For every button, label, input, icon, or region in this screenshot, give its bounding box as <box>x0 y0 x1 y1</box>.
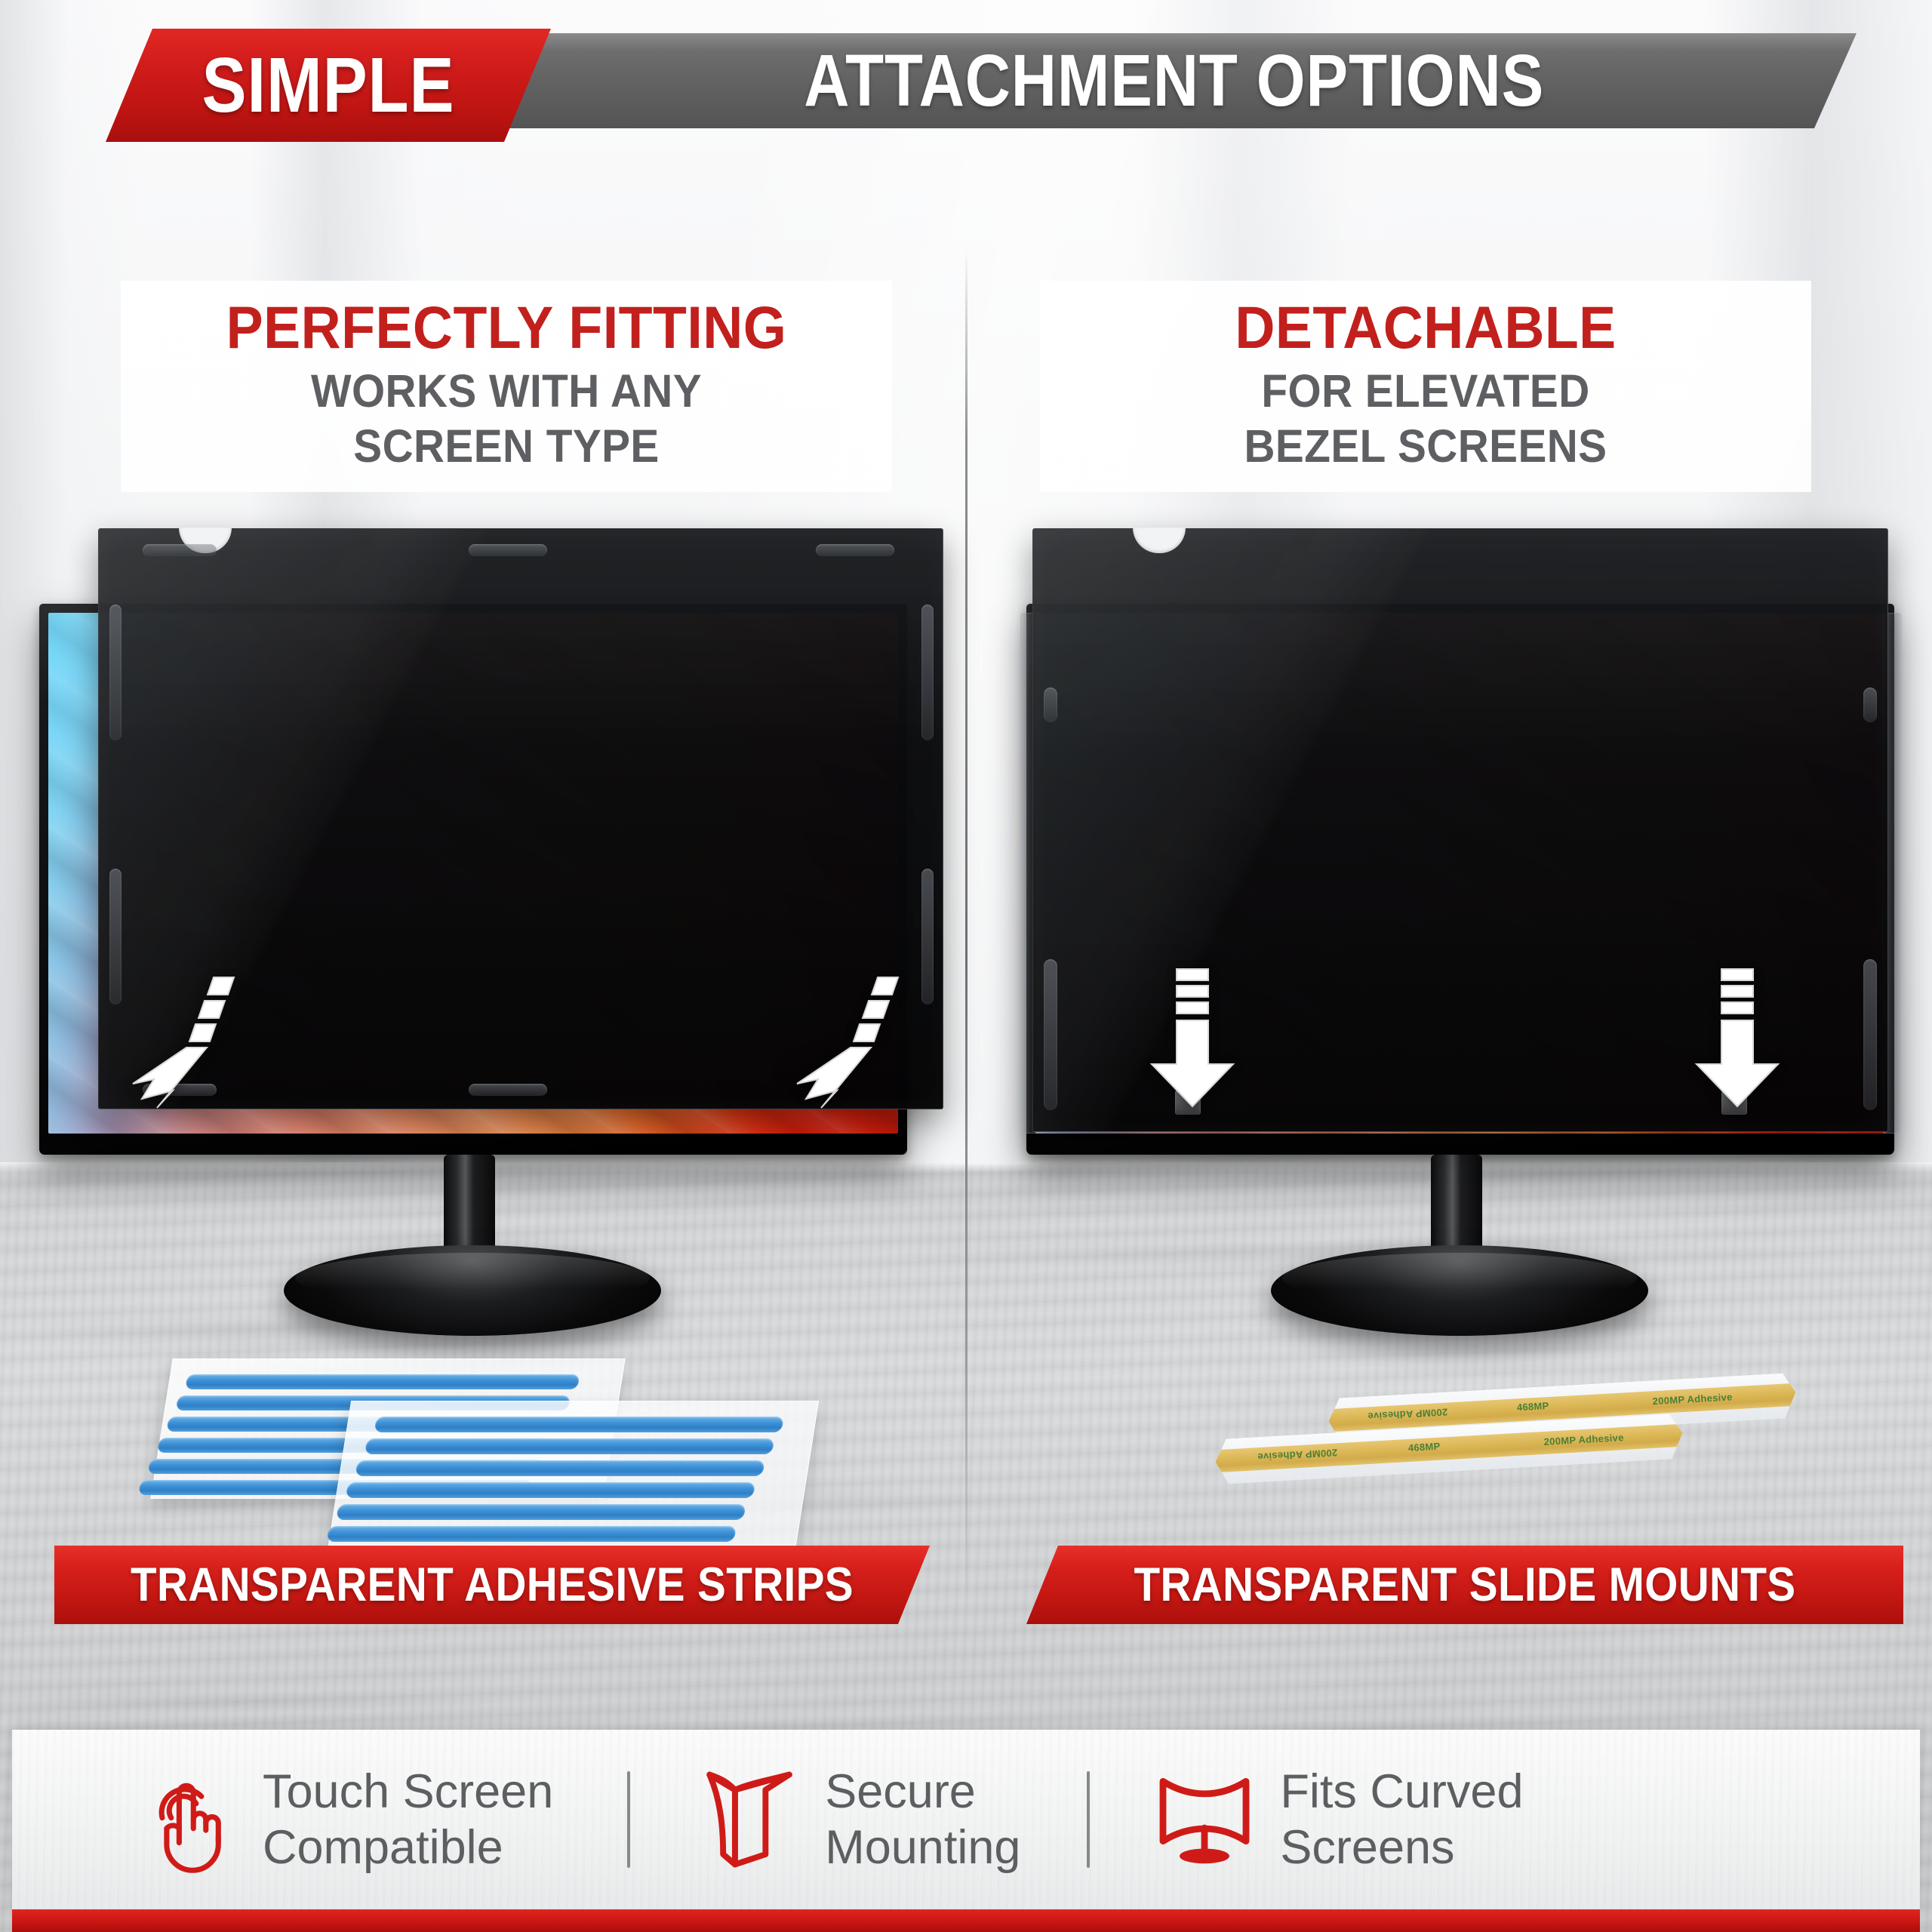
monitor-left-stand-base <box>284 1245 661 1336</box>
header-badge: SIMPLE <box>137 29 519 142</box>
ribbon-right-label: TRANSPARENT SLIDE MOUNTS <box>1070 1546 1860 1624</box>
header-title: ATTACHMENT OPTIONS <box>593 33 1761 128</box>
adhesive-strip <box>346 1482 755 1498</box>
feature-secure-mounting: Secure Mounting <box>700 1730 1020 1909</box>
strip-sheet-front <box>328 1401 819 1546</box>
header-banner: ATTACHMENT OPTIONS SIMPLE <box>0 29 1932 149</box>
filter-rail-clip-left-lower <box>1044 959 1057 1110</box>
filter-tab-top-right <box>816 544 894 556</box>
filter-tab-bottom-center <box>469 1084 547 1096</box>
feature-separator-1 <box>627 1771 630 1868</box>
caption-panel-right: DETACHABLE FOR ELEVATED BEZEL SCREENS <box>1040 281 1811 492</box>
tape-label: 200MP Adhesive <box>1543 1432 1624 1447</box>
filter-rail-clip-left-upper <box>1044 688 1057 722</box>
caption-subtitle-left-line2: SCREEN TYPE <box>148 419 865 474</box>
adhesive-strip <box>336 1504 746 1520</box>
adhesive-strip <box>365 1438 774 1454</box>
feature-curved-screens: Fits Curved Screens <box>1155 1730 1523 1909</box>
install-arrow-right-1 <box>1140 958 1245 1109</box>
ribbon-left: TRANSPARENT ADHESIVE STRIPS <box>54 1546 930 1624</box>
filter-tab-top-center <box>469 544 547 556</box>
install-arrow-right-2 <box>1684 958 1790 1109</box>
caption-title-left: PERFECTLY FITTING <box>148 291 865 364</box>
caption-subtitle-left-line1: WORKS WITH ANY <box>148 364 865 419</box>
caption-title-right: DETACHABLE <box>1067 291 1784 364</box>
caption-subtitle-right-line1: FOR ELEVATED <box>1067 364 1784 419</box>
caption-subtitle-right-line2: BEZEL SCREENS <box>1067 419 1784 474</box>
adhesive-strip <box>327 1526 737 1542</box>
feature-secure-mounting-label: Secure Mounting <box>825 1764 1020 1875</box>
filter-rail-clip-right-upper <box>1863 688 1877 722</box>
filter-rail-clip-right-lower <box>1863 959 1877 1110</box>
install-arrow-left-2 <box>777 958 928 1109</box>
tape-label: 468MP <box>1407 1441 1440 1454</box>
filter-tab-top-left <box>143 544 217 556</box>
tape-label: 200MP Adhesive <box>1257 1447 1338 1463</box>
adhesive-strip <box>374 1417 784 1432</box>
tape-label: 468MP <box>1516 1400 1549 1413</box>
filter-notch-right <box>1133 528 1186 553</box>
feature-touch-screen-label: Touch Screen Compatible <box>263 1764 553 1875</box>
feature-curved-screens-label: Fits Curved Screens <box>1280 1764 1523 1875</box>
install-arrow-left-1 <box>113 958 264 1109</box>
ribbon-right: TRANSPARENT SLIDE MOUNTS <box>1026 1546 1903 1624</box>
touch-screen-icon <box>137 1762 237 1877</box>
caption-panel-left: PERFECTLY FITTING WORKS WITH ANY SCREEN … <box>121 281 892 492</box>
panel-divider <box>965 249 968 1607</box>
header-title-plate: ATTACHMENT OPTIONS <box>498 33 1857 128</box>
tape-label: 200MP Adhesive <box>1367 1406 1448 1422</box>
secure-mounting-icon <box>700 1762 799 1877</box>
feature-bar: Touch Screen Compatible Secure Mounting <box>12 1730 1920 1909</box>
adhesive-strip <box>355 1460 764 1476</box>
header-badge-plate: SIMPLE <box>106 29 551 142</box>
ribbon-left-label: TRANSPARENT ADHESIVE STRIPS <box>98 1546 886 1624</box>
feature-touch-screen: Touch Screen Compatible <box>137 1730 553 1909</box>
feature-bar-accent-stripe <box>12 1909 1920 1932</box>
adhesive-strip <box>185 1374 580 1389</box>
curved-screen-icon <box>1155 1762 1254 1877</box>
infographic-canvas: ATTACHMENT OPTIONS SIMPLE PERFECTLY FITT… <box>0 0 1932 1932</box>
tape-label: 200MP Adhesive <box>1652 1391 1733 1407</box>
monitor-right-stand-base <box>1271 1245 1648 1336</box>
feature-separator-2 <box>1087 1771 1090 1868</box>
filter-tab-side-left-upper <box>109 605 122 740</box>
filter-tab-side-right-upper <box>921 605 934 740</box>
